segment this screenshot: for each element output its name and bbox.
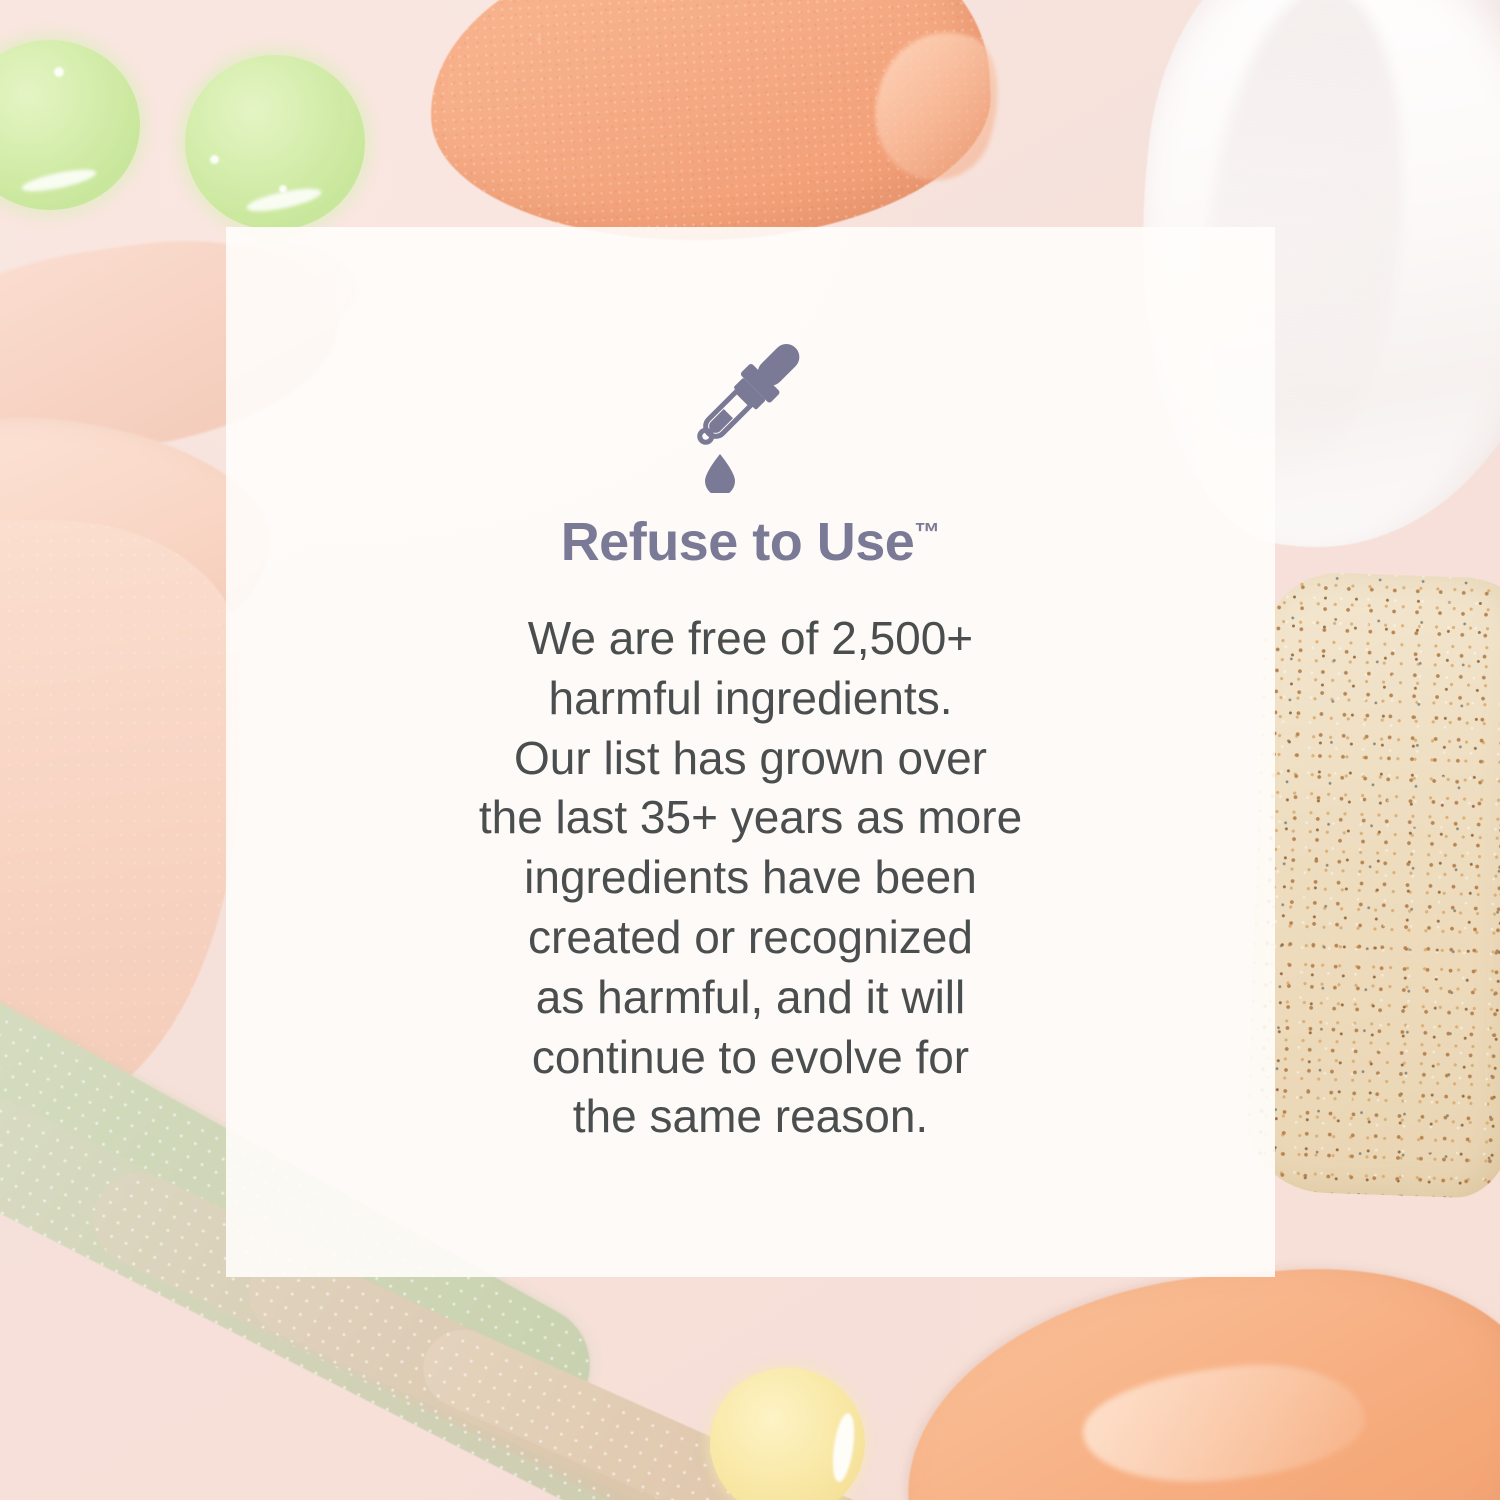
body-line: created or recognized: [401, 908, 1101, 968]
body-line: ingredients have been: [401, 848, 1101, 908]
page-title: Refuse to Use™: [561, 515, 941, 569]
green-gel-droplet-2: [185, 55, 365, 230]
body-line: the same reason.: [401, 1087, 1101, 1147]
beige-scrub-particles: [1244, 570, 1500, 1199]
body-line: continue to evolve for: [401, 1028, 1101, 1088]
droplet-highlight: [54, 67, 64, 77]
promo-graphic: Refuse to Use™ We are free of 2,500+ har…: [0, 0, 1500, 1500]
droplet-highlight: [210, 155, 219, 164]
body-line: We are free of 2,500+: [401, 609, 1101, 669]
dropper-icon: [687, 335, 815, 493]
body-line: harmful ingredients.: [401, 669, 1101, 729]
content-card: Refuse to Use™ We are free of 2,500+ har…: [226, 227, 1275, 1277]
trademark-symbol: ™: [914, 517, 940, 547]
body-line: the last 35+ years as more: [401, 788, 1101, 848]
body-line: Our list has grown over: [401, 729, 1101, 789]
body-line: as harmful, and it will: [401, 968, 1101, 1028]
body-copy: We are free of 2,500+ harmful ingredient…: [401, 609, 1101, 1147]
droplet-highlight: [279, 185, 287, 193]
title-text: Refuse to Use: [561, 512, 915, 572]
